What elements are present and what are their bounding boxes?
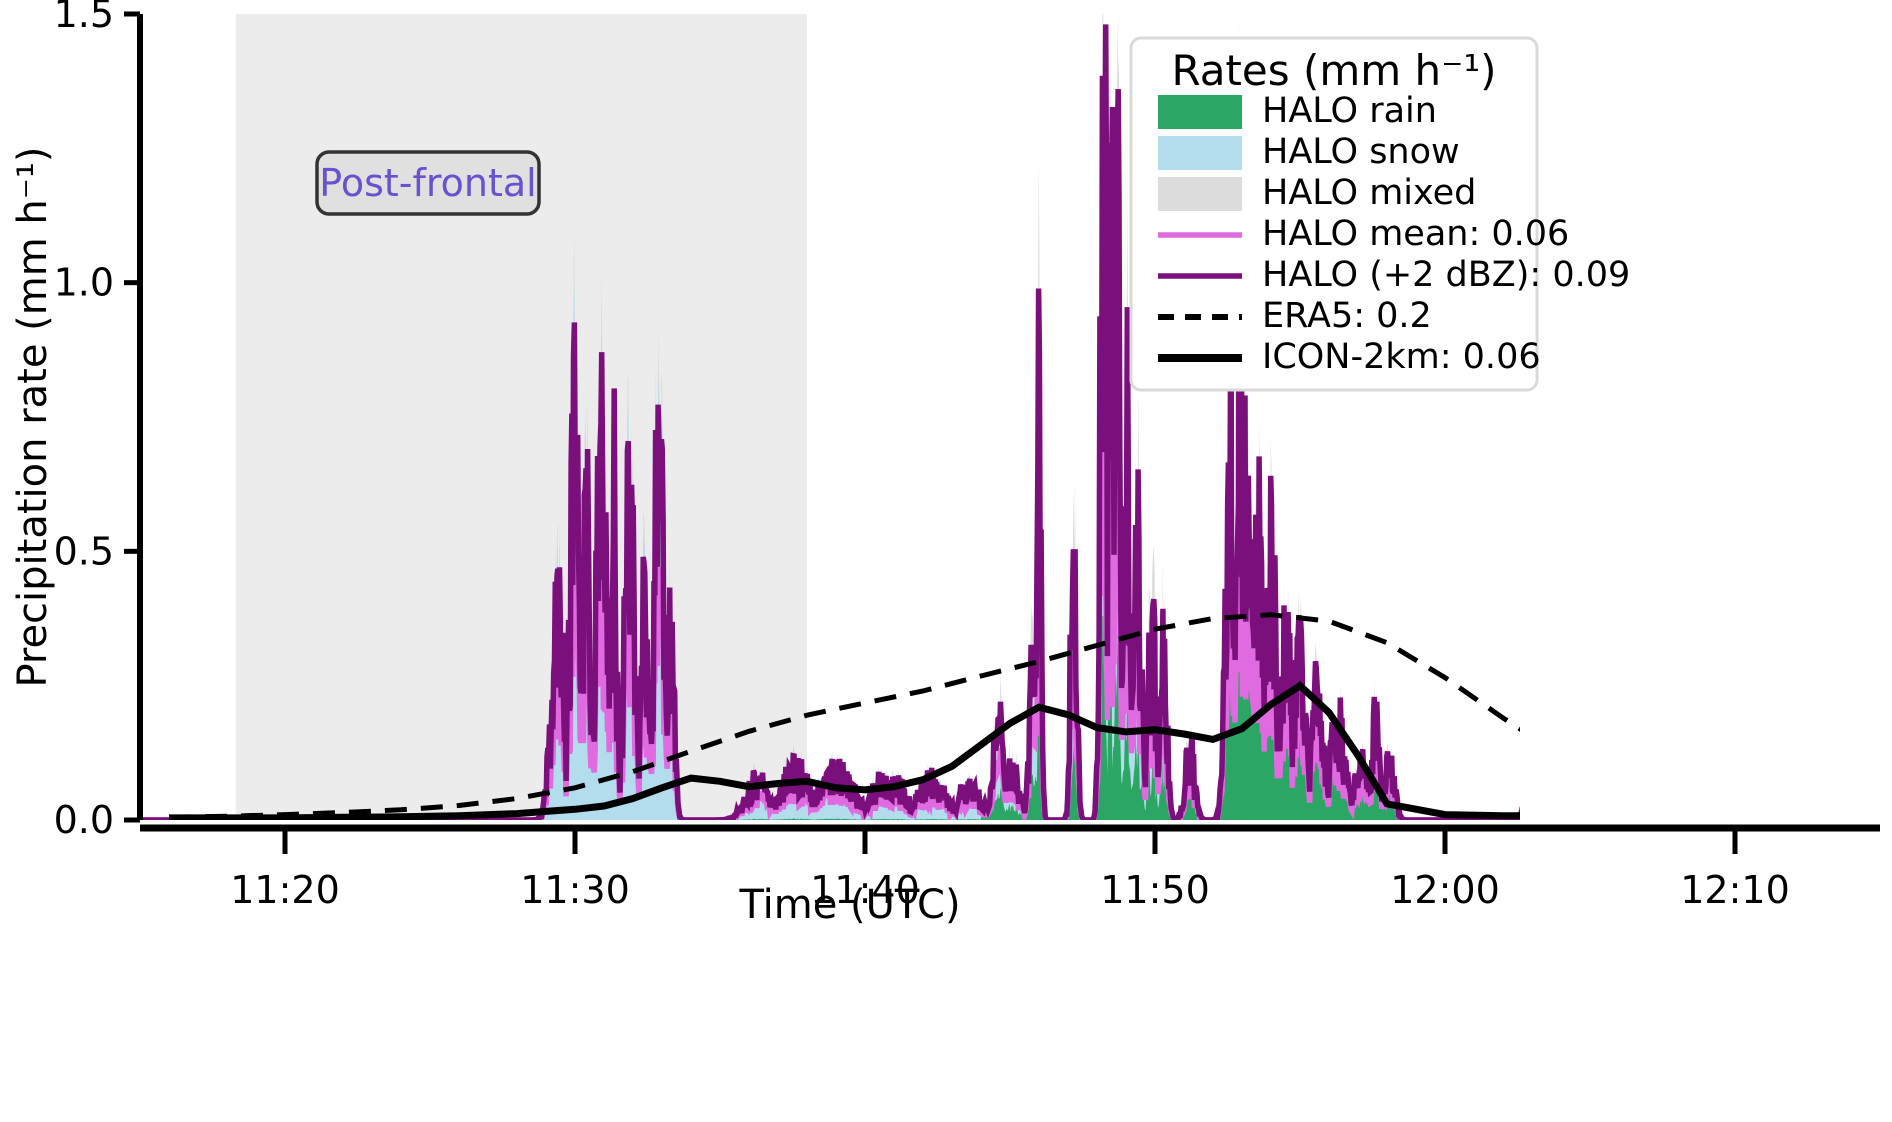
legend-label: HALO snow [1262,132,1460,172]
legend-label: ERA5: 0.2 [1262,296,1432,336]
shaded-span [236,14,807,820]
legend-item[interactable]: HALO snow [1158,132,1460,172]
legend-item[interactable]: HALO mixed [1158,173,1476,213]
x-axis-title: Time (UTC) [738,882,960,928]
legend-swatch [1158,136,1242,170]
legend-label: HALO (+2 dBZ): 0.09 [1262,255,1630,295]
legend-label: HALO mean: 0.06 [1262,214,1569,254]
x-tick-label: 12:00 [1390,868,1500,912]
legend-swatch [1158,95,1242,129]
y-tick-label: 0.5 [54,529,114,573]
legend-item[interactable]: HALO rain [1158,91,1437,131]
y-tick-label: 0.0 [54,798,114,842]
x-tick-label: 11:20 [230,868,340,912]
post-frontal-label: Post-frontal [319,161,536,205]
x-tick-label: 12:10 [1680,868,1790,912]
x-tick-label: 11:50 [1100,868,1210,912]
legend-label: HALO mixed [1262,173,1476,213]
legend-label: ICON-2km: 0.06 [1262,337,1541,377]
shaded-span-group [236,14,807,820]
post-frontal-annotation: Post-frontal [317,152,539,214]
precipitation-rate-chart: 0.00.51.01.5 11:2011:3011:4011:5012:0012… [0,0,1892,1122]
y-tick-label: 1.5 [54,0,114,36]
y-axis-title: Precipitation rate (mm h⁻¹) [10,146,56,687]
x-tick-label: 11:30 [520,868,630,912]
legend-label: HALO rain [1262,91,1437,131]
chart-root: 0.00.51.01.5 11:2011:3011:4011:5012:0012… [0,0,1892,1122]
legend-title: Rates (mm h⁻¹) [1171,46,1496,95]
y-tick-label: 1.0 [54,261,114,305]
legend-swatch [1158,177,1242,211]
